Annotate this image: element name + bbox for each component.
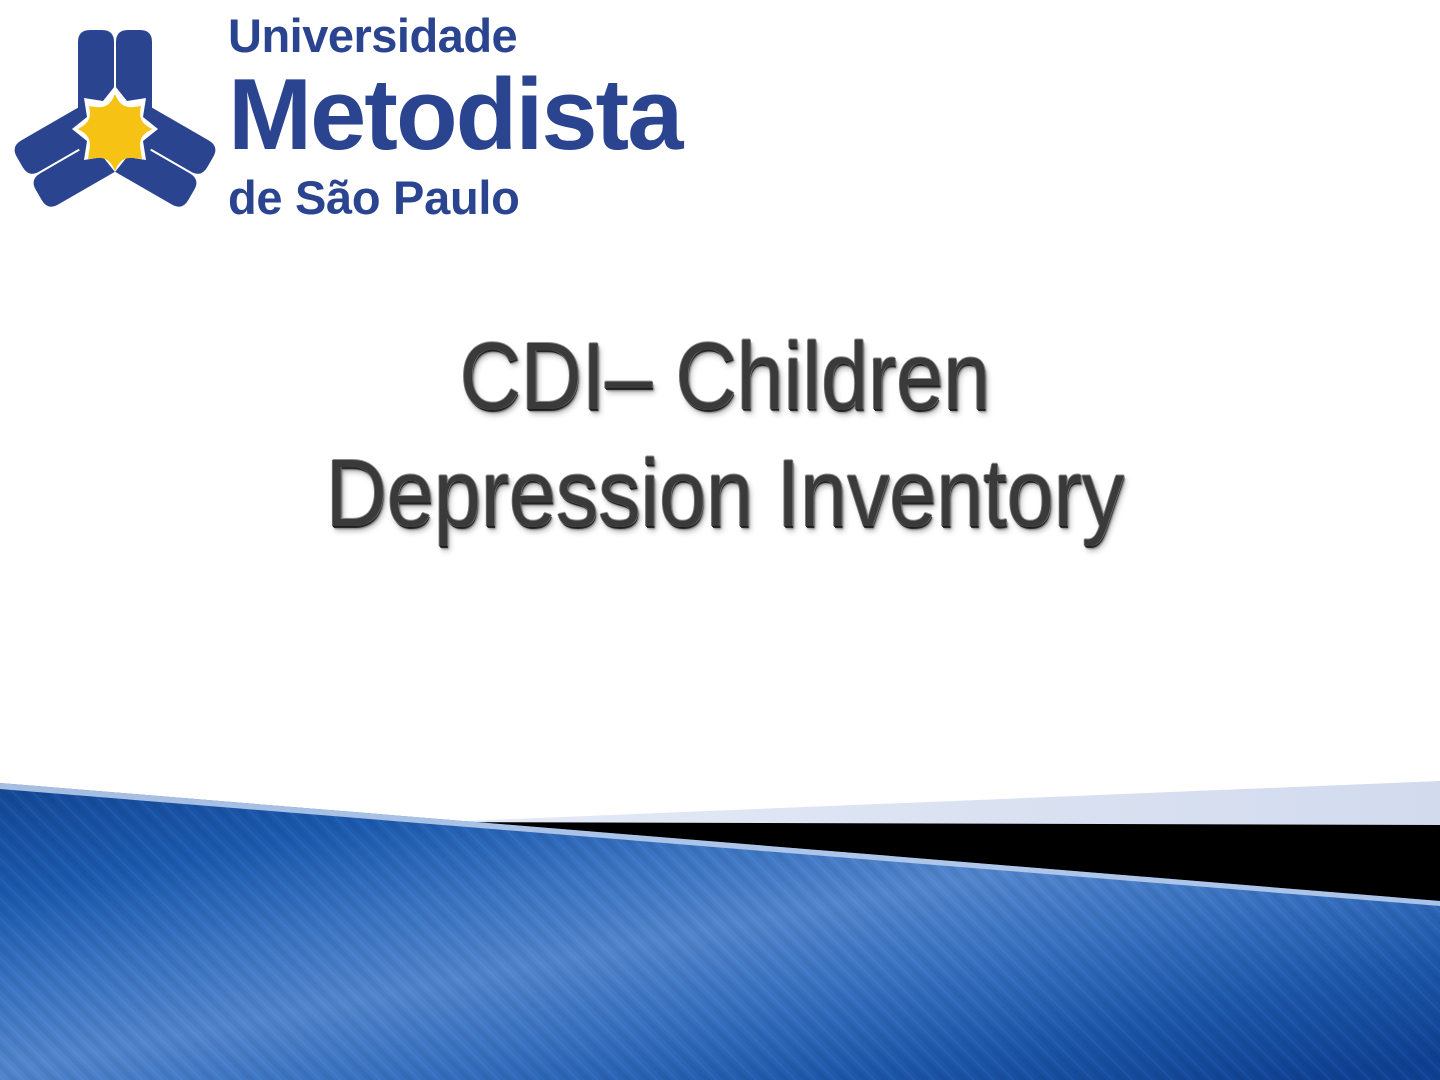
logo: Universidade Metodista de São Paulo [0,0,760,235]
band-black-wedge [440,822,1440,903]
band-blue-wedge [0,783,1440,1080]
page-title-line-2: Depression Inventory [184,435,1266,552]
logo-line-de-sao-paulo: de São Paulo [228,174,748,221]
page-title-line-1: CDI– Children [184,318,1266,435]
logo-line-metodista: Metodista [228,65,748,166]
logo-wordmark: Universidade Metodista de São Paulo [228,8,748,223]
logo-line-universidade: Universidade [228,12,748,59]
band-edge-highlight [0,783,1440,906]
title-slide: Universidade Metodista de São Paulo CDI–… [0,0,1440,1080]
trefoil-trident-star-icon [0,12,230,227]
page-title: CDI– Children Depression Inventory [110,318,1340,552]
band-lavender-wedge [440,781,1440,825]
